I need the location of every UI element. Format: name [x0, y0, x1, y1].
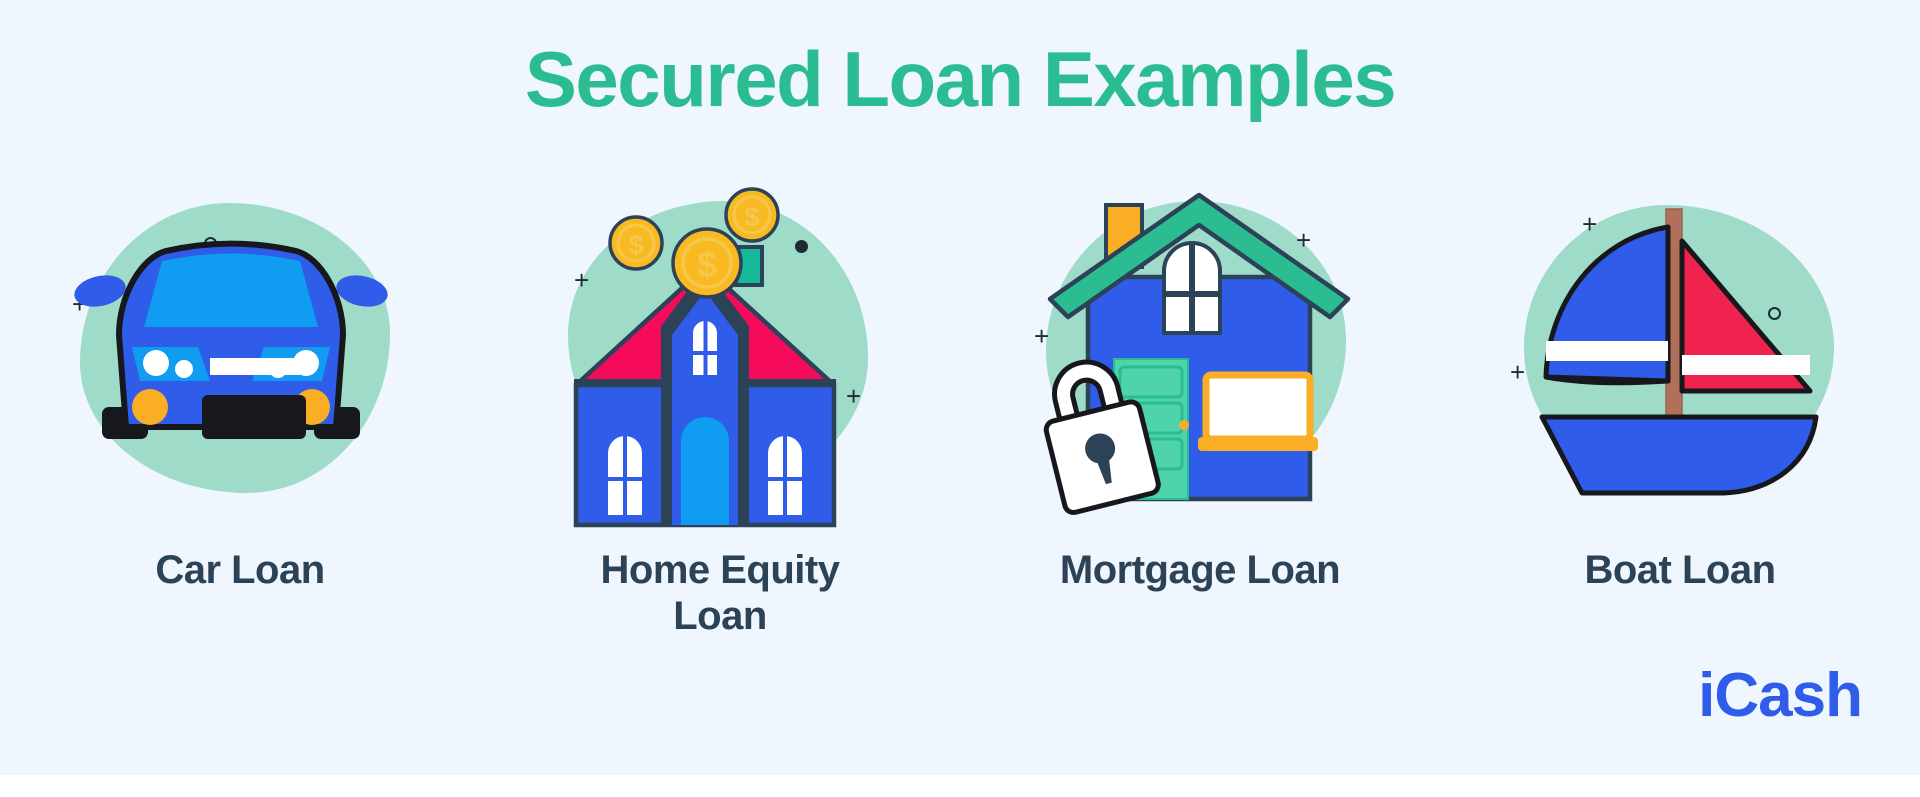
page-title: Secured Loan Examples: [0, 34, 1920, 125]
loan-card-label-car: Car Loan: [155, 547, 324, 593]
loan-card-car: + +: [30, 195, 450, 593]
svg-text:$: $: [744, 202, 759, 232]
car-icon: [70, 195, 410, 525]
mortgage-illustration: + +: [1030, 195, 1370, 525]
car-illustration: + +: [70, 195, 410, 525]
home-equity-illustration: + +: [550, 195, 890, 525]
loan-card-label-home-equity: Home Equity Loan: [555, 547, 885, 639]
loan-card-label-mortgage: Mortgage Loan: [1060, 547, 1340, 593]
svg-text:$: $: [697, 244, 717, 285]
loan-card-boat: + + Boat Loan: [1470, 195, 1890, 593]
svg-text:$: $: [628, 230, 643, 260]
loan-card-mortgage: + +: [990, 195, 1410, 593]
loan-examples-row: + +: [0, 195, 1920, 639]
loan-card-home-equity: + +: [510, 195, 930, 639]
bottom-white-strip: [0, 775, 1920, 797]
infographic-canvas: Secured Loan Examples + +: [0, 0, 1920, 775]
house-with-lock-icon: [1030, 195, 1370, 525]
loan-card-label-boat: Boat Loan: [1584, 547, 1775, 593]
boat-illustration: + +: [1510, 195, 1850, 525]
icash-logo: iCash: [1698, 660, 1862, 731]
sailboat-icon: [1510, 195, 1850, 525]
house-with-coins-icon: $ $ $: [550, 195, 890, 525]
